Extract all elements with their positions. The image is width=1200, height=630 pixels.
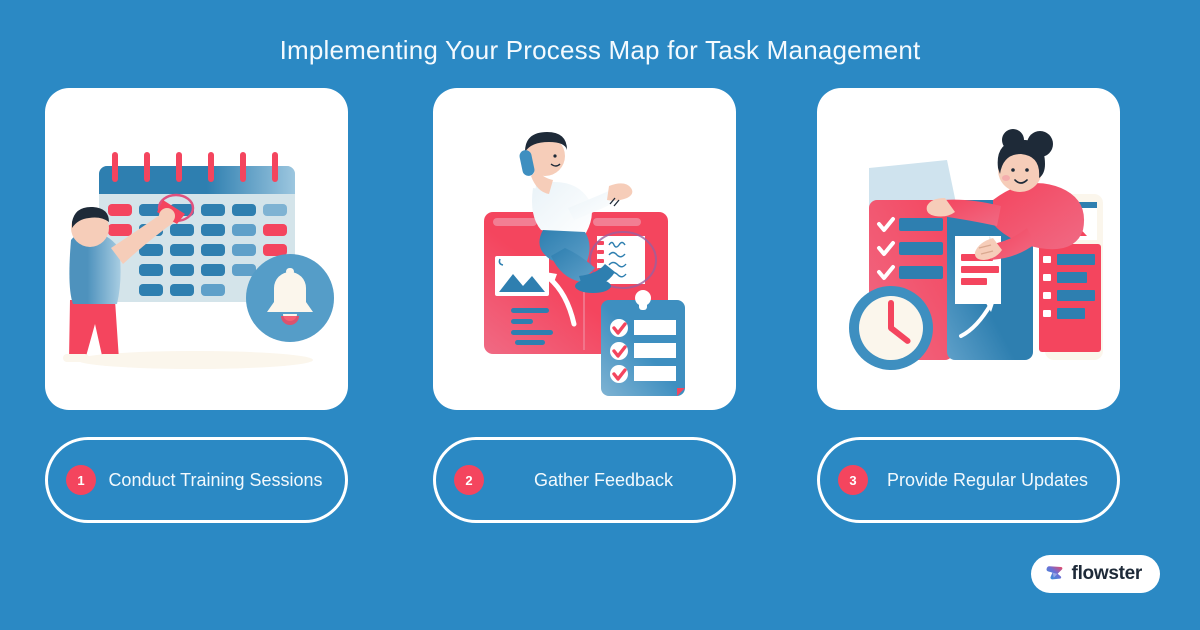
step-pill-2[interactable]: 2 Gather Feedback <box>433 437 736 523</box>
flowster-swirl-mark <box>1044 564 1065 585</box>
flowster-logo[interactable]: flowster <box>1031 555 1160 593</box>
illustration-card-2 <box>433 88 736 410</box>
step-pill-3[interactable]: 3 Provide Regular Updates <box>817 437 1120 523</box>
cards-row <box>45 88 1155 410</box>
logo-text: flowster <box>1072 563 1142 585</box>
bell-notification-icon <box>246 254 334 342</box>
feedback-board-illustration <box>433 88 736 410</box>
step-number-badge-2: 2 <box>454 465 484 495</box>
illustration-card-1 <box>45 88 348 410</box>
checklist-rows <box>879 218 943 279</box>
side-list-panel <box>1039 244 1101 352</box>
step-number-badge-1: 1 <box>66 465 96 495</box>
step-pill-1[interactable]: 1 Conduct Training Sessions <box>45 437 348 523</box>
calendar-training-illustration <box>45 88 348 410</box>
step-number-badge-3: 3 <box>838 465 868 495</box>
page-title: Implementing Your Process Map for Task M… <box>0 32 1200 68</box>
clipboard-checklist <box>601 290 685 396</box>
clock-icon <box>849 286 933 370</box>
illustration-card-3 <box>817 88 1120 410</box>
steps-row: 1 Conduct Training Sessions 2 Gather Fee… <box>45 437 1155 523</box>
regular-updates-illustration <box>817 88 1120 410</box>
infographic-page: Implementing Your Process Map for Task M… <box>0 0 1200 630</box>
